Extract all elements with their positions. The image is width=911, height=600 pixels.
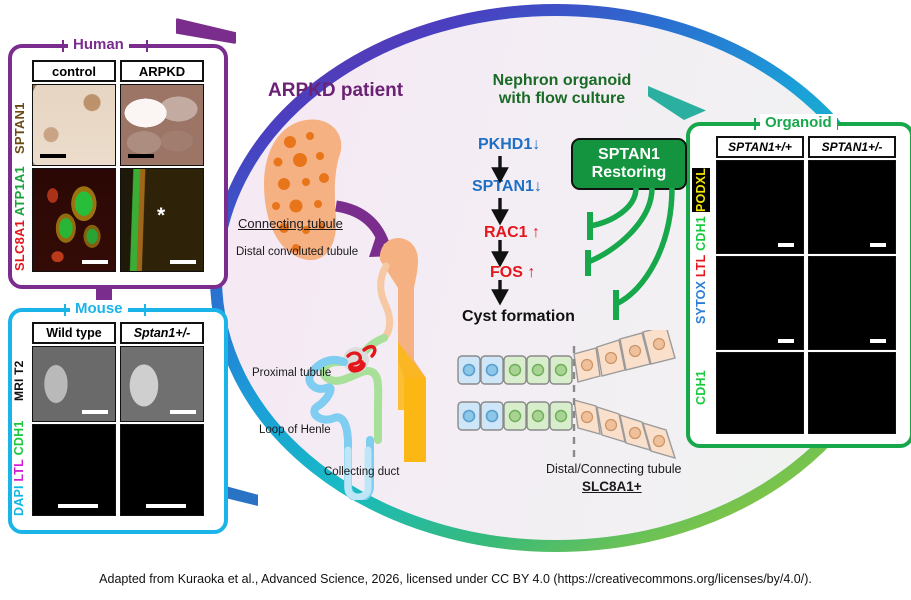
mouse-scalebar-3 <box>58 504 98 508</box>
organoid-image-merge-het <box>808 160 896 254</box>
organoid-image-cdh1-het <box>808 352 896 434</box>
organoid-scalebar-3 <box>778 339 794 343</box>
organoid-col-wt: SPTAN1+/+ <box>716 136 804 158</box>
label-connecting-tubule: Connecting tubule <box>238 216 343 231</box>
organoid-scalebar-2 <box>870 243 886 247</box>
organoid-image-3d-het <box>808 256 896 350</box>
tubule-caption-line1: Distal/Connecting tubule <box>546 462 682 476</box>
mouse-image-if-wildtype <box>32 424 116 516</box>
nephron-organoid-title: Nephron organoid with flow culture <box>452 72 672 109</box>
mouse-scalebar-2 <box>170 410 196 414</box>
mouse-title-tick-left <box>64 304 66 316</box>
sptan1-restoring-line1: SPTAN1 <box>592 146 667 164</box>
human-col-control: control <box>32 60 116 82</box>
sptan1-restoring-line2: Restoring <box>592 164 667 182</box>
human-scalebar-3 <box>82 260 108 264</box>
organoid-image-3d-wt <box>716 256 804 350</box>
label-proximal-tubule: Proximal tubule <box>252 367 331 379</box>
kidney-and-nephron-illustration <box>238 110 458 500</box>
human-scalebar-4 <box>170 260 196 264</box>
mouse-row-label-dapi-ltl-cdh1: DAPI LTL CDH1 <box>12 428 28 516</box>
nephron-organoid-title-line2: with flow culture <box>452 90 672 108</box>
mouse-scalebar-4 <box>146 504 186 508</box>
tubule-caption-line2: SLC8A1+ <box>582 479 642 494</box>
mouse-panel-title: Mouse <box>70 300 128 317</box>
label-collecting-duct: Collecting duct <box>324 466 399 478</box>
human-scalebar-2 <box>128 154 154 158</box>
organoid-title-tick-left <box>754 118 756 130</box>
nephron-organoid-title-line1: Nephron organoid <box>452 72 672 90</box>
organoid-image-cdh1-wt <box>716 352 804 434</box>
organoid-scalebar-4 <box>870 339 886 343</box>
organoid-panel-title: Organoid <box>760 114 837 131</box>
label-loop-of-henle: Loop of Henle <box>259 424 331 436</box>
mouse-col-wildtype: Wild type <box>32 322 116 344</box>
organoid-col-het: SPTAN1+/- <box>808 136 896 158</box>
tubule-cell-diagram <box>456 330 706 460</box>
sptan1-restoring-box: SPTAN1 Restoring <box>571 138 687 190</box>
human-row-label-slc8a1-atp1a1: SLC8A1 ATP1A1 <box>12 175 28 271</box>
figure-caption: Adapted from Kuraoka et al., Advanced Sc… <box>0 572 911 586</box>
mouse-image-if-sptan1 <box>120 424 204 516</box>
human-col-arpkd: ARPKD <box>120 60 204 82</box>
human-image-if-control <box>32 168 116 272</box>
human-row-label-sptan1: SPTAN1 <box>12 90 28 166</box>
arpkd-patient-title: ARPKD patient <box>268 80 403 102</box>
inhibition-arcs <box>540 186 700 326</box>
human-title-tick-left <box>62 40 64 52</box>
organoid-scalebar-1 <box>778 243 794 247</box>
mouse-row-label-mri: MRI T2 <box>12 350 28 412</box>
mouse-title-tick-right <box>144 304 146 316</box>
organoid-image-merge-wt <box>716 160 804 254</box>
mouse-col-sptan1-het: Sptan1+/- <box>120 322 204 344</box>
human-asterisk-annotation: * <box>157 205 165 226</box>
mouse-scalebar-1 <box>82 410 108 414</box>
human-panel-title: Human <box>68 36 129 53</box>
human-title-tick-right <box>146 40 148 52</box>
label-distal-convoluted-tubule: Distal convoluted tubule <box>236 246 358 258</box>
human-scalebar-1 <box>40 154 66 158</box>
